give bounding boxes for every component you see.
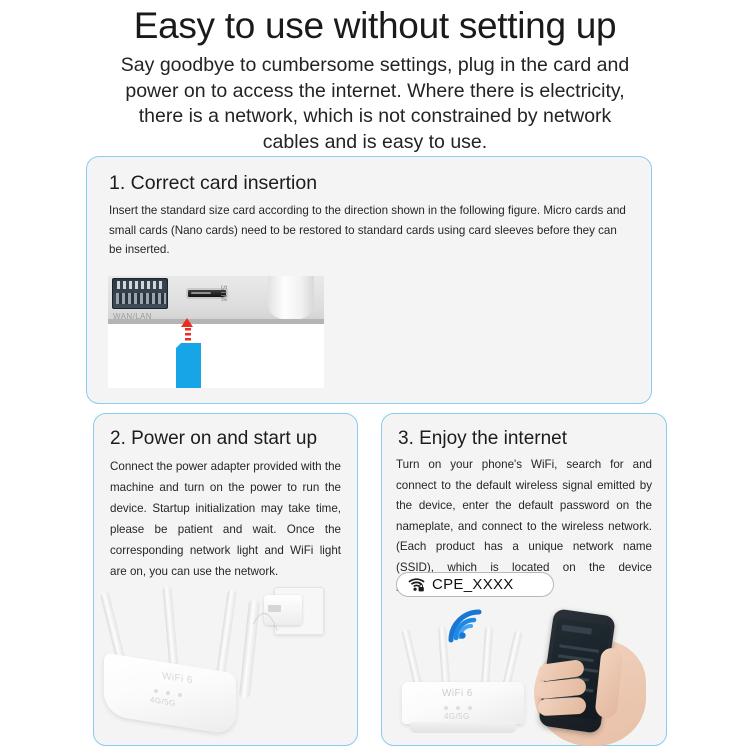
card-1-title: 1. Correct card insertion [87,157,651,195]
phone-screen-row [561,625,592,635]
router-led-1 [444,706,448,710]
card-1-body: Insert the standard size card according … [87,195,651,260]
wifi-lock-icon [408,577,425,592]
router-led-2 [456,706,460,710]
page-title: Easy to use without setting up [60,4,690,48]
router-with-power-adapter-illustration: WiFi 6 4G/5G [96,585,356,745]
router-sub-label: 4G/5G [444,712,470,721]
antenna-3 [216,589,237,675]
sim-card-insertion-illustration: WAN/LAN SIM [108,276,324,388]
antenna-2 [162,586,178,670]
sim-card [176,343,201,388]
insertion-arrow-icon [181,318,194,327]
router-and-phone-illustration: WiFi 6 4G/5G [386,604,664,746]
router-led-1 [154,689,158,693]
insertion-dashed-line [185,328,191,342]
ssid-badge[interactable]: CPE_XXXX [396,572,554,597]
router-rear-panel: WAN/LAN SIM [108,276,324,324]
ethernet-port [112,278,168,309]
sim-slot-label: SIM [219,285,228,302]
finger-3 [538,697,587,716]
router-led-3 [178,693,182,697]
ssid-label: CPE_XXXX [432,576,514,593]
ethernet-pins-bottom [116,293,166,304]
adapter-usb-port [268,605,281,612]
page-subtitle: Say goodbye to cumbersome settings, plug… [60,48,690,155]
page-header: Easy to use without setting up Say goodb… [0,0,750,155]
wan-lan-label: WAN/LAN [113,312,152,321]
antenna-1 [401,628,423,690]
card-2-body: Connect the power adapter provided with … [94,453,357,582]
card-3-title: 3. Enjoy the internet [382,414,666,453]
router-brand-label: WiFi 6 [442,688,473,699]
card-2-title: 2. Power on and start up [94,414,357,453]
router-led-3 [468,706,472,710]
instruction-page: Easy to use without setting up Say goodb… [0,0,750,750]
router-led-2 [166,691,170,695]
ethernet-pins-top [117,281,165,289]
wifi-signal-icon [444,606,490,644]
router-base [410,722,516,733]
antenna-base [268,276,314,320]
phone-screen-row [559,644,599,653]
